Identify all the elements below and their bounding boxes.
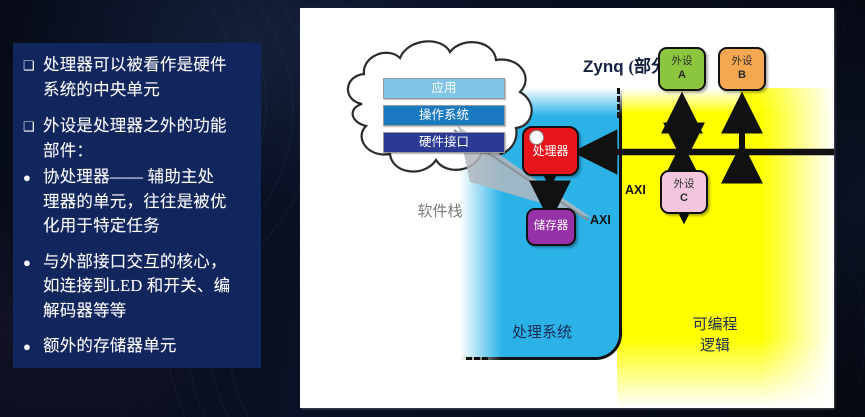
line: 额外的存储器单元 <box>43 336 177 355</box>
bullet-text-panel: ❑ 处理器可以被看作是硬件 系统的中央单元 ❑ 外设是处理器之外的功能 部件： … <box>13 43 261 368</box>
ps-bottom-dashed-edge <box>466 357 488 360</box>
processor-label: 处理器 <box>532 144 568 158</box>
peripheral-b-block[interactable]: 外设 B <box>718 47 766 91</box>
list-item-label: 外设是处理器之外的功能 部件： <box>43 114 253 163</box>
axi-bus-arrows <box>450 88 834 318</box>
peripheral-c-id: C <box>680 192 688 205</box>
list-item-label: 处理器可以被看作是硬件 系统的中央单元 <box>43 53 253 102</box>
peripheral-a-id: A <box>678 69 686 82</box>
list-item: ● 额外的存储器单元 <box>23 334 253 359</box>
peripheral-b-label: 外设 <box>732 56 753 68</box>
line: 外设是处理器之外的功能 <box>43 116 227 135</box>
axi-bus-label: AXI <box>625 183 646 197</box>
line: 理器的单元，往往是被优 <box>43 192 227 211</box>
line: 协处理器—— 辅助主处 <box>43 167 214 186</box>
square-bullet-icon: ❑ <box>23 53 43 78</box>
list-item-label: 协处理器—— 辅助主处 理器的单元，往往是被优 化用于特定任务 <box>43 165 253 239</box>
memory-block[interactable]: 储存器 <box>526 208 576 246</box>
peripheral-a-block[interactable]: 外设 A <box>658 47 706 91</box>
list-item-label: 额外的存储器单元 <box>43 334 253 359</box>
memory-label: 储存器 <box>534 220 569 234</box>
peripheral-a-label: 外设 <box>672 56 693 68</box>
processor-highlight-dot-icon <box>529 130 544 145</box>
spacer <box>23 241 253 250</box>
list-item: ❑ 处理器可以被看作是硬件 系统的中央单元 <box>23 53 253 102</box>
square-bullet-icon: ❑ <box>23 114 43 139</box>
line: 与外部接口交互的核心， <box>43 252 227 271</box>
dot-bullet-icon: ● <box>23 334 43 359</box>
list-item: ● 协处理器—— 辅助主处 理器的单元，往往是被优 化用于特定任务 <box>23 165 253 239</box>
peripheral-c-label: 外设 <box>674 179 695 191</box>
pl-caption-line1: 可编程 <box>692 317 737 333</box>
programmable-logic-caption: 可编程 逻辑 <box>660 315 770 357</box>
line: 部件： <box>43 141 93 160</box>
processing-system-caption: 处理系统 <box>482 321 602 342</box>
list-item: ● 与外部接口交互的核心， 如连接到LED 和开关、编 解码器等等 <box>23 250 253 324</box>
dot-bullet-icon: ● <box>23 250 43 275</box>
line: 化用于特定任务 <box>43 216 160 235</box>
zynq-diagram-panel: Zynq (部分) 应用 操作系统 硬件接口 软件栈 <box>300 8 834 408</box>
list-item-label: 与外部接口交互的核心， 如连接到LED 和开关、编 解码器等等 <box>43 250 253 324</box>
dot-bullet-icon: ● <box>23 165 43 190</box>
spacer <box>23 104 253 114</box>
spacer <box>23 325 253 334</box>
line: 如连接到LED 和开关、编 <box>43 276 230 295</box>
list-item: ❑ 外设是处理器之外的功能 部件： <box>23 114 253 163</box>
axi-internal-label: AXI <box>590 213 611 227</box>
title-main: Zynq <box>583 57 624 76</box>
pl-caption-line2: 逻辑 <box>700 338 730 354</box>
peripheral-c-block[interactable]: 外设 C <box>660 170 708 214</box>
line: 解码器等等 <box>43 301 127 320</box>
line: 处理器可以被看作是硬件 <box>43 55 227 74</box>
peripheral-b-id: B <box>738 69 746 82</box>
line: 系统的中央单元 <box>43 80 160 99</box>
